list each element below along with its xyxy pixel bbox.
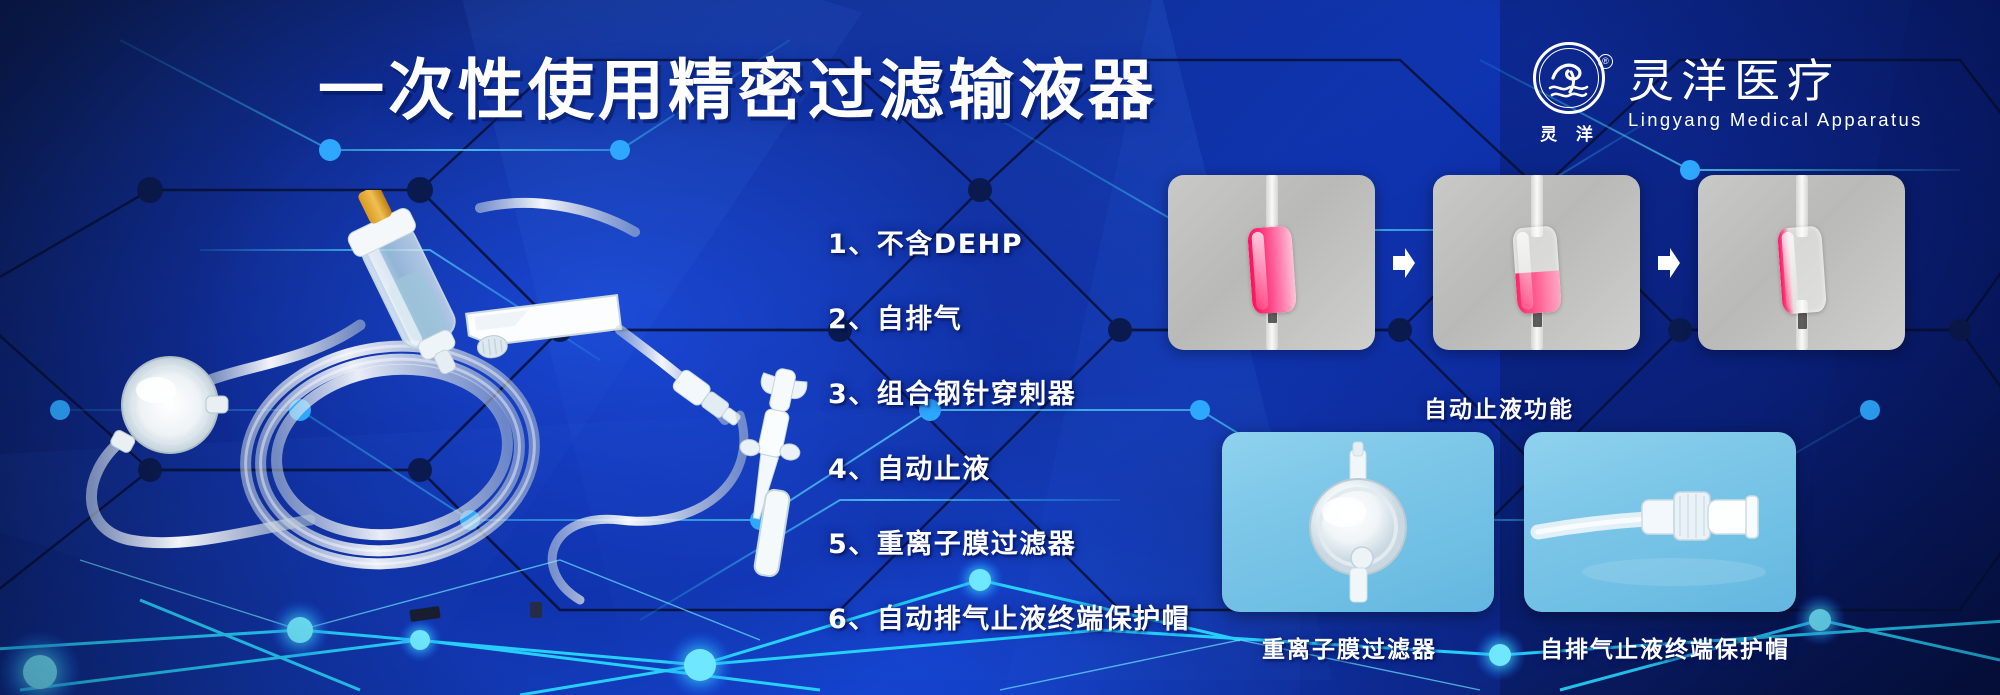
feature-item-2: 2、自排气: [828, 297, 1190, 336]
sequence-caption: 自动止液功能: [1424, 390, 1574, 424]
round-filter-disc-part: [109, 357, 228, 454]
logo-mark-caption: 灵 洋: [1530, 120, 1610, 145]
feature-item-6: 6、自动排气止液终端保护帽: [828, 597, 1190, 636]
filter-chamber-full: [1247, 226, 1297, 315]
photo-heavy-ion-membrane-filter: [1222, 432, 1494, 612]
page-title: 一次性使用精密过滤输液器: [318, 58, 1158, 124]
feature-item-3: 3、组合钢针穿刺器: [828, 372, 1190, 411]
photo-terminal-protective-cap: [1524, 432, 1796, 612]
wave-bird-glyph: [1539, 48, 1599, 108]
caption-heavy-ion-membrane-filter: 重离子膜过滤器: [1262, 630, 1437, 664]
feature-item-5: 5、重离子膜过滤器: [828, 522, 1190, 561]
arrow-right-icon: [1391, 246, 1417, 280]
registered-trademark-icon: ®: [1598, 54, 1613, 69]
brand-name-cn: 灵洋医疗: [1628, 57, 1923, 107]
product-banner: 一次性使用精密过滤输液器 ® 灵 洋 灵洋医疗 Lingyang Medical…: [0, 0, 2000, 695]
feature-list: 1、不含DEHP 2、自排气 3、组合钢针穿刺器 4、自动止液 5、重离子膜过滤…: [828, 222, 1190, 636]
lingyang-emblem-icon: ® 灵 洋: [1530, 42, 1612, 146]
infusion-set-graphic: [60, 190, 820, 640]
brand-name-block: 灵洋医疗 Lingyang Medical Apparatus: [1628, 57, 1923, 132]
caption-terminal-protective-cap: 自排气止液终端保护帽: [1540, 630, 1790, 664]
feature-item-1: 1、不含DEHP: [828, 222, 1190, 261]
filter-chamber-partial: [1512, 226, 1562, 315]
protective-cap-graphic: [1524, 432, 1796, 612]
filter-chamber-empty: [1777, 226, 1827, 315]
brand-logo: ® 灵 洋 灵洋医疗 Lingyang Medical Apparatus: [1530, 42, 1923, 146]
product-photo-infusion-set: [60, 190, 820, 640]
sequence-photo-2: [1433, 175, 1640, 350]
sequence-arrow-2: [1640, 246, 1698, 280]
feature-item-4: 4、自动止液: [828, 447, 1190, 486]
brand-name-en: Lingyang Medical Apparatus: [1628, 109, 1923, 131]
arrow-right-icon: [1656, 246, 1682, 280]
sequence-arrow-1: [1375, 246, 1433, 280]
roller-clamp-part: [466, 295, 623, 360]
sequence-photo-1: [1168, 175, 1375, 350]
filter-disc-graphic: [1222, 432, 1494, 612]
auto-stop-sequence: [1168, 175, 1905, 350]
sequence-photo-3: [1698, 175, 1905, 350]
injection-port-part: [671, 368, 745, 431]
